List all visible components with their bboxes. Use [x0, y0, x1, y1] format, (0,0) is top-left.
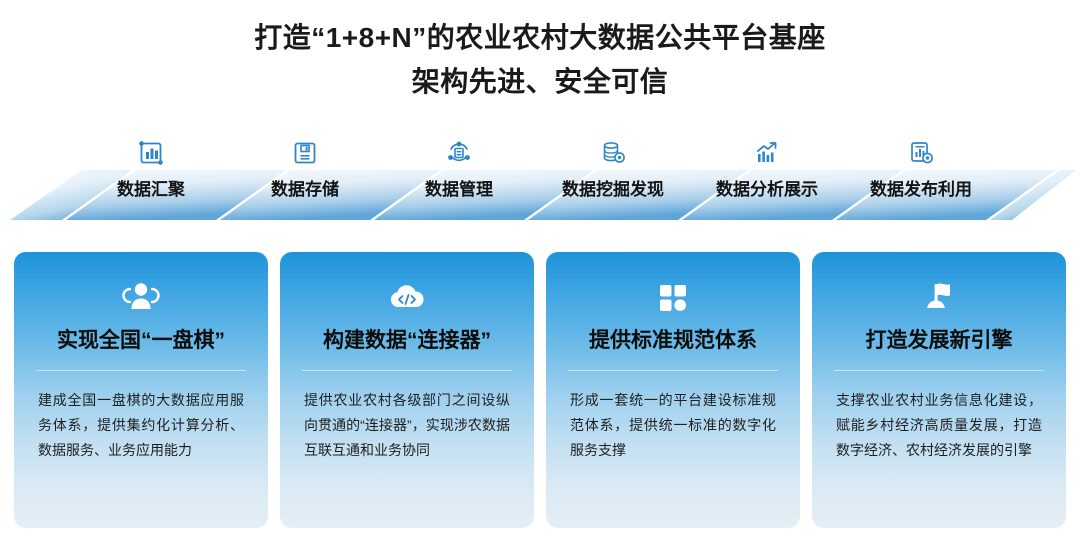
feature-card-4-title: 打造发展新引擎 — [812, 324, 1066, 354]
feature-card-2[interactable]: 构建数据“连接器” 提供农业农村各级部门之间设纵向贯通的“连接器”，实现涉农数据… — [280, 252, 534, 528]
band-step-3[interactable]: 数据管理 — [384, 132, 534, 224]
feature-card-2-title: 构建数据“连接器” — [280, 324, 534, 354]
feature-card-3[interactable]: 提供标准规范体系 形成一套统一的平台建设标准规范体系，提供统一标准的数字化服务支… — [546, 252, 800, 528]
band-step-6-label: 数据发布利用 — [846, 175, 996, 200]
database-gear-icon — [538, 136, 688, 170]
feature-card-1-title: 实现全国“一盘棋” — [14, 324, 268, 354]
band-step-4[interactable]: 数据挖掘发现 — [538, 132, 688, 224]
flag-icon — [812, 276, 1066, 316]
feature-card-1-divider — [36, 370, 246, 371]
page-title: 打造“1+8+N”的农业农村大数据公共平台基座 架构先进、安全可信 — [0, 16, 1080, 104]
four-blocks-icon — [546, 276, 800, 316]
chart-trend-up-icon — [692, 136, 842, 170]
band-step-1-label: 数据汇聚 — [76, 175, 226, 200]
band-step-5[interactable]: 数据分析展示 — [692, 132, 842, 224]
page-title-line-1: 打造“1+8+N”的农业农村大数据公共平台基座 — [0, 16, 1080, 60]
feature-card-4-divider — [834, 370, 1044, 371]
feature-card-2-body: 提供农业农村各级部门之间设纵向贯通的“连接器”，实现涉农数据互联互通和业务协同 — [304, 388, 510, 463]
feature-card-1-body: 建成全国一盘棋的大数据应用服务体系，提供集约化计算分析、数据服务、业务应用能力 — [38, 388, 244, 463]
page-title-line-2: 架构先进、安全可信 — [0, 60, 1080, 104]
floppy-disk-icon — [230, 136, 380, 170]
feature-card-4[interactable]: 打造发展新引擎 支撑农业农村业务信息化建设，赋能乡村经济高质量发展，打造数字经济… — [812, 252, 1066, 528]
bar-chart-frame-icon — [76, 136, 226, 170]
band-step-2[interactable]: 数据存储 — [230, 132, 380, 224]
band-step-3-label: 数据管理 — [384, 175, 534, 200]
band-step-5-label: 数据分析展示 — [692, 175, 842, 200]
band-step-4-label: 数据挖掘发现 — [538, 175, 688, 200]
process-step-band: 数据汇聚 数据存储 — [0, 132, 1080, 224]
cloud-code-icon — [280, 276, 534, 316]
report-gear-icon — [846, 136, 996, 170]
feature-card-1[interactable]: 实现全国“一盘棋” 建成全国一盘棋的大数据应用服务体系，提供集约化计算分析、数据… — [14, 252, 268, 528]
feature-card-4-body: 支撑农业农村业务信息化建设，赋能乡村经济高质量发展，打造数字经济、农村经济发展的… — [836, 388, 1042, 463]
feature-card-3-title: 提供标准规范体系 — [546, 324, 800, 354]
band-step-2-label: 数据存储 — [230, 175, 380, 200]
feature-card-2-divider — [302, 370, 512, 371]
band-step-6[interactable]: 数据发布利用 — [846, 132, 996, 224]
band-step-1[interactable]: 数据汇聚 — [76, 132, 226, 224]
feature-card-3-body: 形成一套统一的平台建设标准规范体系，提供统一标准的数字化服务支撑 — [570, 388, 776, 463]
people-group-icon — [14, 276, 268, 316]
feature-card-list: 实现全国“一盘棋” 建成全国一盘棋的大数据应用服务体系，提供集约化计算分析、数据… — [14, 252, 1066, 528]
network-nodes-database-icon — [384, 136, 534, 170]
feature-card-3-divider — [568, 370, 778, 371]
